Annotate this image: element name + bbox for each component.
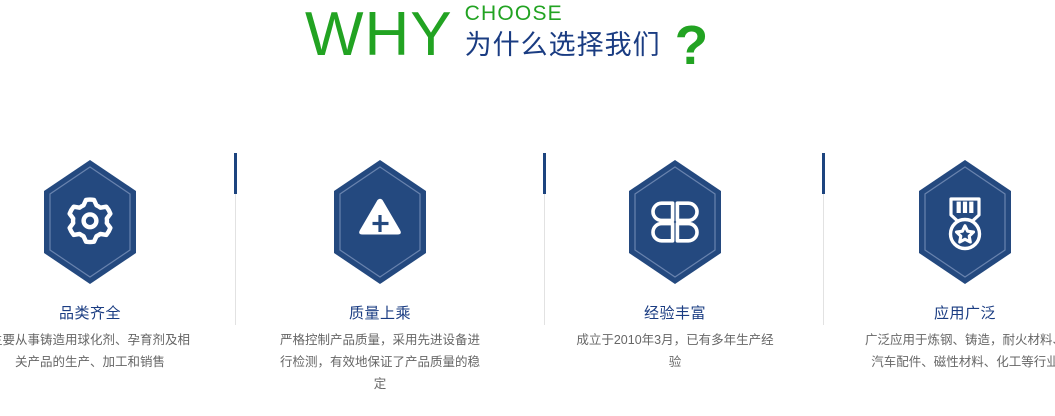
card-title: 品类齐全 bbox=[59, 304, 121, 324]
hexagon-badge bbox=[916, 158, 1014, 286]
feature-card[interactable]: 质量上乘 严格控制产品质量，采用先进设备进行检测，有效地保证了产品质量的稳定 bbox=[262, 150, 498, 395]
heading-middle-group: CHOOSE 为什么选择我们 bbox=[465, 0, 661, 63]
card-description: 成立于2010年3月，已有多年生产经验 bbox=[575, 329, 775, 373]
card-title: 质量上乘 bbox=[349, 304, 411, 324]
hexagon-badge bbox=[331, 158, 429, 286]
heading-inner: WHY CHOOSE 为什么选择我们 ? bbox=[305, 0, 708, 76]
question-mark-icon: ? bbox=[675, 0, 709, 76]
heading-why: WHY bbox=[305, 0, 453, 70]
card-description: 广泛应用于炼钢、铸造，耐火材料、汽车配件、磁性材料、化工等行业 bbox=[865, 329, 1055, 373]
feature-card[interactable]: 品类齐全 主要从事铸造用球化剂、孕育剂及相关产品的生产、加工和销售 bbox=[0, 150, 208, 373]
why-choose-us-section: WHY CHOOSE 为什么选择我们 ? bbox=[0, 0, 1055, 416]
card-title: 应用广泛 bbox=[934, 304, 996, 324]
hexagon-badge bbox=[41, 158, 139, 286]
heading-chinese-title: 为什么选择我们 bbox=[465, 27, 661, 63]
feature-cards-row: 品类齐全 主要从事铸造用球化剂、孕育剂及相关产品的生产、加工和销售 质量上乘 严… bbox=[0, 150, 1055, 416]
feature-card[interactable]: 应用广泛 广泛应用于炼钢、铸造，耐火材料、汽车配件、磁性材料、化工等行业 bbox=[847, 150, 1055, 373]
heading-choose: CHOOSE bbox=[465, 2, 661, 26]
feature-card[interactable]: 经验丰富 成立于2010年3月，已有多年生产经验 bbox=[557, 150, 793, 373]
card-description: 主要从事铸造用球化剂、孕育剂及相关产品的生产、加工和销售 bbox=[0, 329, 190, 373]
hexagon-badge bbox=[626, 158, 724, 286]
card-description: 严格控制产品质量，采用先进设备进行检测，有效地保证了产品质量的稳定 bbox=[280, 329, 480, 395]
card-title: 经验丰富 bbox=[644, 304, 706, 324]
section-heading: WHY CHOOSE 为什么选择我们 ? bbox=[0, 0, 1055, 90]
